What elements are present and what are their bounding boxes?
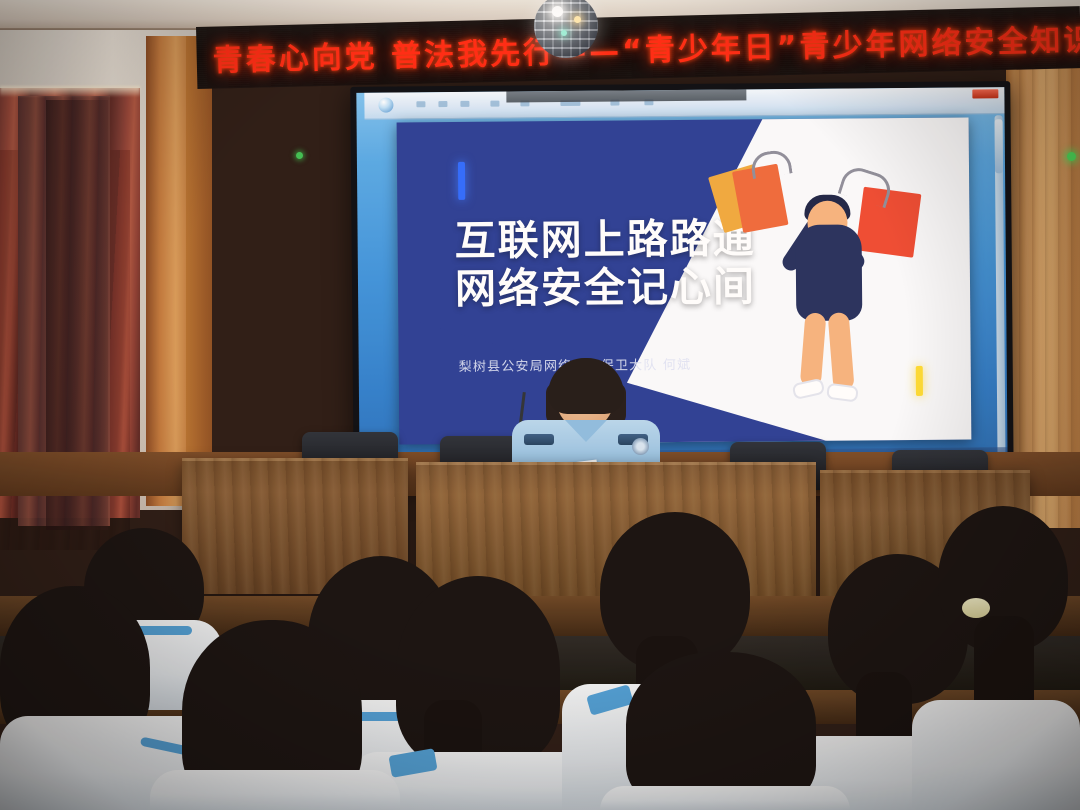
mirror-ball-highlight-warm bbox=[574, 16, 581, 23]
lecture-hall-photo: 青春心向党 普法我先行——“青少年日”青少年网络安全知识讲座 bbox=[0, 0, 1080, 810]
window-titlebar[interactable] bbox=[506, 88, 746, 102]
hair-scrunchie bbox=[962, 598, 990, 618]
wall-indicator-led bbox=[296, 152, 303, 159]
jumping-person-with-shopping-bags-icon bbox=[711, 152, 943, 414]
shoe-left bbox=[792, 378, 826, 400]
slide-accent-bar bbox=[458, 162, 465, 200]
uniform-shirt bbox=[912, 700, 1080, 810]
uniform-shirt bbox=[150, 770, 400, 810]
bag-handle-left bbox=[749, 148, 792, 179]
mirror-ball-highlight bbox=[552, 6, 563, 17]
close-icon[interactable] bbox=[972, 89, 998, 98]
ribbon-menu-item[interactable] bbox=[416, 101, 425, 107]
torso bbox=[795, 224, 862, 321]
ribbon-menu-item[interactable] bbox=[460, 101, 469, 107]
shoulder-badge-icon bbox=[632, 438, 649, 455]
screen-surface[interactable]: 互联网上路路通 网络安全记心间 梨树县公安局网络安全保卫大队 何斌 bbox=[356, 87, 1007, 479]
ribbon-menu-item[interactable] bbox=[490, 101, 499, 107]
green-indicator-led bbox=[1067, 152, 1076, 161]
epaulet-left bbox=[524, 434, 554, 445]
ribbon-menu-item[interactable] bbox=[438, 101, 447, 107]
mirror-ball-highlight-cool bbox=[561, 30, 567, 36]
presentation-slide[interactable]: 互联网上路路通 网络安全记心间 梨树县公安局网络安全保卫大队 何斌 bbox=[397, 117, 972, 444]
curtain-rod-highlight bbox=[0, 86, 140, 96]
left-wood-pillar-edge bbox=[186, 36, 212, 514]
projection-screen[interactable]: 互联网上路路通 网络安全记心间 梨树县公安局网络安全保卫大队 何斌 bbox=[350, 81, 1013, 485]
uniform-shirt bbox=[600, 786, 850, 810]
leg-left bbox=[800, 312, 827, 387]
office-orb-icon[interactable] bbox=[378, 98, 393, 113]
scrollbar-thumb[interactable] bbox=[995, 119, 1003, 173]
shoe-right bbox=[826, 383, 859, 403]
leg-right bbox=[828, 312, 855, 391]
